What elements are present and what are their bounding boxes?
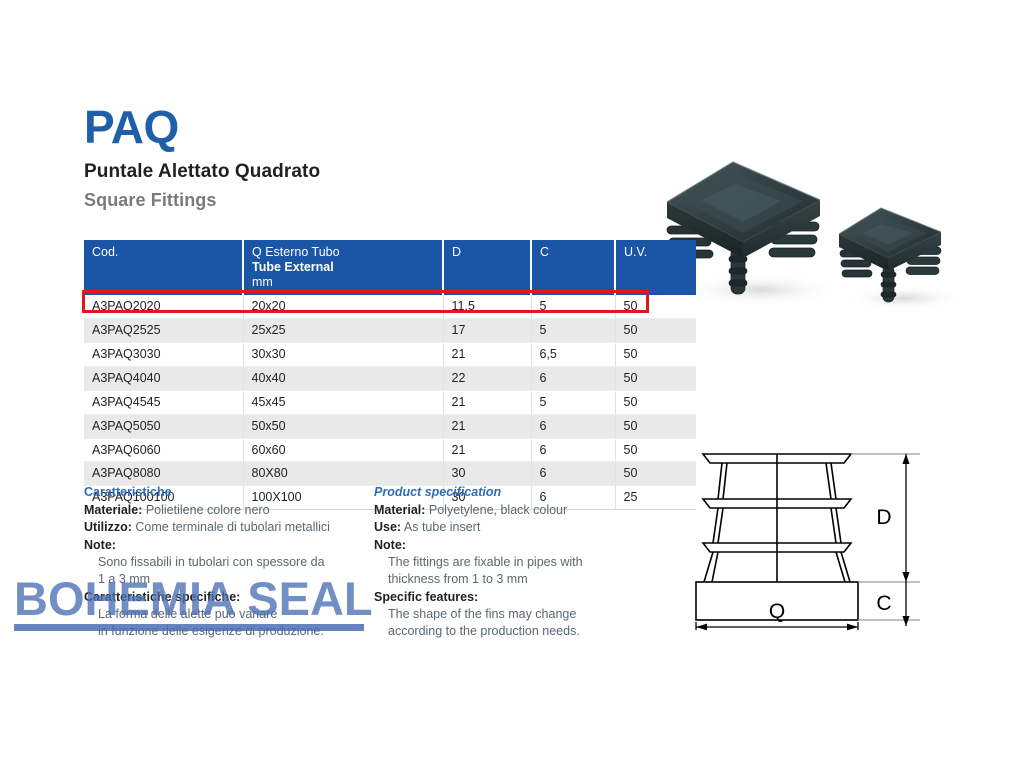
cell-d: 21 xyxy=(443,438,531,462)
spec-table: Cod. Q Esterno Tubo Tube External mm D C xyxy=(84,240,696,510)
leg-right-mid xyxy=(831,508,836,543)
cell-d: 11,5 xyxy=(443,295,531,318)
cell-uv: 50 xyxy=(615,343,696,367)
table-row[interactable]: A3PAQ3030 30x30 21 6,5 50 xyxy=(84,343,696,367)
spec-it-specific-line1: La forma delle alette può variare xyxy=(84,606,372,623)
spec-en-use-value: As tube insert xyxy=(404,520,480,534)
spec-it-specific-line2: in funzione delle esigenze di produzione… xyxy=(84,623,372,640)
cell-c: 6 xyxy=(531,414,615,438)
table-row[interactable]: A3PAQ8080 80X80 30 6 50 xyxy=(84,462,696,486)
spec-en-specific-label: Specific features: xyxy=(374,589,654,606)
cell-uv: 50 xyxy=(615,414,696,438)
table-row[interactable]: A3PAQ2525 25x25 17 5 50 xyxy=(84,319,696,343)
table-row[interactable]: A3PAQ6060 60x60 21 6 50 xyxy=(84,438,696,462)
spec-it-note-label: Note: xyxy=(84,537,372,554)
spec-en-specific-line1: The shape of the fins may change xyxy=(374,606,654,623)
leg-left-lower-2 xyxy=(712,552,718,582)
spec-en-heading: Product specification xyxy=(374,484,654,501)
spec-en-use-label: Use: xyxy=(374,520,401,534)
table-row[interactable]: A3PAQ5050 50x50 21 6 50 xyxy=(84,414,696,438)
cell-code: A3PAQ6060 xyxy=(84,438,243,462)
dimension-label-c: C xyxy=(876,592,891,615)
leg-right-mid-2 xyxy=(836,508,841,543)
leg-left-upper-2 xyxy=(723,463,727,499)
title-block: PAQ Puntale Alettato Quadrato Square Fit… xyxy=(84,104,504,211)
product-code: PAQ xyxy=(84,104,504,150)
column-header-code: Cod. xyxy=(84,240,243,295)
spec-it-use-label: Utilizzo: xyxy=(84,520,132,534)
dimension-d xyxy=(902,454,909,582)
product-photo-svg xyxy=(655,140,1024,320)
cell-tube-external: 20x20 xyxy=(243,295,443,318)
cell-uv: 50 xyxy=(615,366,696,390)
spec-it-material: Materiale: Polietilene colore nero xyxy=(84,502,372,519)
product-datasheet: PAQ Puntale Alettato Quadrato Square Fit… xyxy=(0,0,1024,768)
spec-it-material-label: Materiale: xyxy=(84,503,142,517)
cell-tube-external: 40x40 xyxy=(243,366,443,390)
column-header-q-unit: mm xyxy=(252,275,273,289)
column-header-tube-external: Q Esterno Tubo Tube External mm xyxy=(243,240,443,295)
spec-en-note-label: Note: xyxy=(374,537,654,554)
cell-code: A3PAQ3030 xyxy=(84,343,243,367)
cell-tube-external: 30x30 xyxy=(243,343,443,367)
column-header-uv-label: U.V. xyxy=(624,245,647,259)
dimension-label-q: Q xyxy=(769,600,785,623)
leg-left-mid-2 xyxy=(718,508,723,543)
cell-d: 22 xyxy=(443,366,531,390)
specification-english: Product specification Material: Polyetyl… xyxy=(374,484,654,640)
spec-it-specific-label: Caratteristiche specifiche: xyxy=(84,589,372,606)
cell-code: A3PAQ4040 xyxy=(84,366,243,390)
cell-d: 21 xyxy=(443,343,531,367)
column-header-uv: U.V. xyxy=(615,240,696,295)
cell-d: 17 xyxy=(443,319,531,343)
spec-en-material-label: Material: xyxy=(374,503,425,517)
technical-drawing: D C Q xyxy=(668,440,930,632)
spec-it-use: Utilizzo: Come terminale di tubolari met… xyxy=(84,519,372,536)
cell-uv: 50 xyxy=(615,390,696,414)
column-header-c: C xyxy=(531,240,615,295)
product-photo xyxy=(655,140,1024,320)
leg-right-lower xyxy=(836,552,845,582)
cell-uv: 50 xyxy=(615,319,696,343)
leg-left-lower xyxy=(704,552,713,582)
cell-d: 30 xyxy=(443,462,531,486)
cell-c: 6 xyxy=(531,366,615,390)
spec-en-note-line1: The fittings are fixable in pipes with xyxy=(374,554,654,571)
cell-code: A3PAQ2525 xyxy=(84,319,243,343)
column-header-q-label-en: Tube External xyxy=(252,260,334,274)
cell-d: 21 xyxy=(443,414,531,438)
spec-en-specific-line2: according to the production needs. xyxy=(374,623,654,640)
cell-tube-external: 80X80 xyxy=(243,462,443,486)
leg-right-upper-2 xyxy=(831,463,836,499)
spec-en-material: Material: Polyetylene, black colour xyxy=(374,502,654,519)
cell-c: 5 xyxy=(531,390,615,414)
leg-right-upper xyxy=(826,463,831,499)
column-header-d-label: D xyxy=(452,245,461,259)
table-header-row: Cod. Q Esterno Tubo Tube External mm D C xyxy=(84,240,696,295)
spec-it-material-value: Polietilene colore nero xyxy=(146,503,270,517)
spec-it-note-line1: Sono fissabili in tubolari con spessore … xyxy=(84,554,372,571)
cell-tube-external: 50x50 xyxy=(243,414,443,438)
cell-c: 6 xyxy=(531,462,615,486)
spec-it-heading: Caratteristiche xyxy=(84,484,372,501)
table-body: A3PAQ2020 20x20 11,5 5 50 A3PAQ2525 25x2… xyxy=(84,295,696,509)
leg-left-mid xyxy=(713,508,718,543)
spec-en-use: Use: As tube insert xyxy=(374,519,654,536)
product-name-english: Square Fittings xyxy=(84,191,504,211)
dimension-q xyxy=(696,622,858,630)
product-name-italian: Puntale Alettato Quadrato xyxy=(84,162,504,183)
table-header: Cod. Q Esterno Tubo Tube External mm D C xyxy=(84,240,696,295)
specification-table: Cod. Q Esterno Tubo Tube External mm D C xyxy=(84,240,648,510)
spec-en-material-value: Polyetylene, black colour xyxy=(429,503,567,517)
cell-c: 5 xyxy=(531,319,615,343)
spec-en-note-line2: thickness from 1 to 3 mm xyxy=(374,571,654,588)
specification-italian: Caratteristiche Materiale: Polietilene c… xyxy=(84,484,372,640)
cell-c: 6 xyxy=(531,438,615,462)
cell-tube-external: 60x60 xyxy=(243,438,443,462)
table-row[interactable]: A3PAQ2020 20x20 11,5 5 50 xyxy=(84,295,696,318)
cell-c: 5 xyxy=(531,295,615,318)
leg-left-upper xyxy=(718,463,722,499)
cell-code: A3PAQ2020 xyxy=(84,295,243,318)
column-header-q-label-it: Q Esterno Tubo xyxy=(252,245,340,259)
column-header-code-label: Cod. xyxy=(92,245,118,259)
cell-c: 6,5 xyxy=(531,343,615,367)
table-row[interactable]: A3PAQ4545 45x45 21 5 50 xyxy=(84,390,696,414)
spec-it-use-value: Come terminale di tubolari metallici xyxy=(135,520,330,534)
dimension-label-d: D xyxy=(876,506,891,529)
column-header-c-label: C xyxy=(540,245,549,259)
table-row[interactable]: A3PAQ4040 40x40 22 6 50 xyxy=(84,366,696,390)
leg-right-lower-2 xyxy=(841,552,850,582)
column-header-d: D xyxy=(443,240,531,295)
cell-tube-external: 45x45 xyxy=(243,390,443,414)
cell-code: A3PAQ4545 xyxy=(84,390,243,414)
cell-code: A3PAQ5050 xyxy=(84,414,243,438)
cell-tube-external: 25x25 xyxy=(243,319,443,343)
cell-uv: 50 xyxy=(615,295,696,318)
cell-d: 21 xyxy=(443,390,531,414)
technical-drawing-svg: D C Q xyxy=(668,440,930,632)
cell-code: A3PAQ8080 xyxy=(84,462,243,486)
spec-it-note-line2: 1 a 3 mm xyxy=(84,571,372,588)
